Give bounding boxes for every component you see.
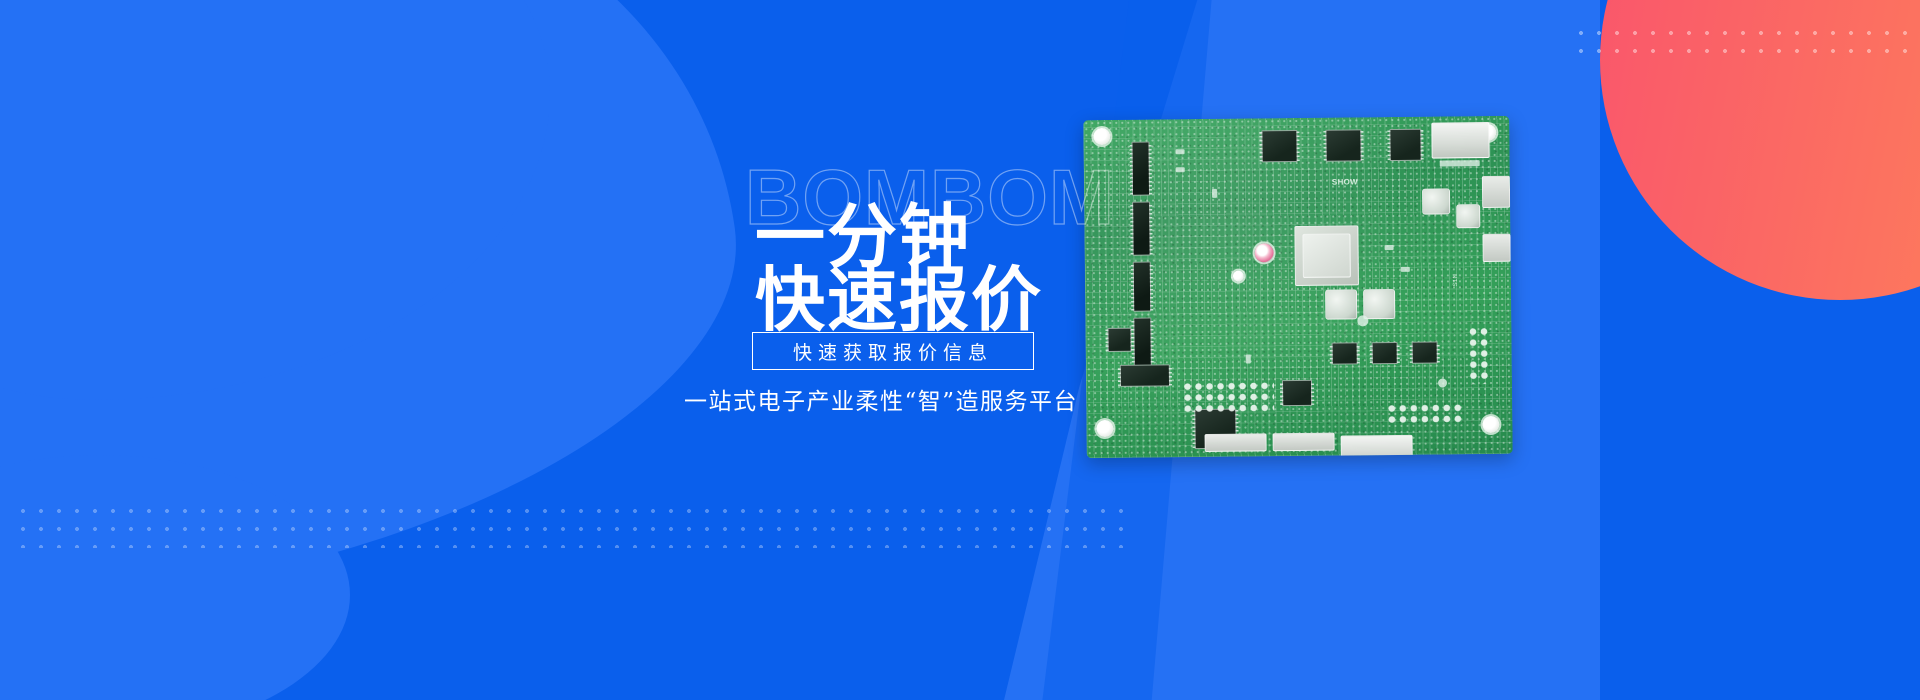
tagline-text: 一站式电子产业柔性“智”造服务平台 bbox=[684, 382, 1078, 416]
pcb-inductor bbox=[1456, 204, 1480, 228]
pcb-processor-die bbox=[1302, 233, 1350, 278]
pcb-mounting-hole bbox=[1255, 243, 1274, 262]
pcb-connector bbox=[1273, 433, 1335, 452]
subtitle-text: 快速获取报价信息 bbox=[793, 338, 993, 365]
pcb-ic-chip bbox=[1133, 262, 1152, 312]
pcb-mounting-hole bbox=[1096, 420, 1113, 437]
pcb-smd-component bbox=[1212, 189, 1217, 198]
pcb-card-slot bbox=[1431, 122, 1489, 159]
pcb-ic-chip bbox=[1325, 129, 1361, 161]
pcb-mounting-hole bbox=[1093, 128, 1110, 145]
pcb-board-image: SHOW S1N bbox=[1083, 116, 1513, 458]
pcb-ic-chip bbox=[1133, 318, 1152, 368]
pcb-smd-component bbox=[1401, 267, 1410, 272]
pcb-smd-component bbox=[1385, 245, 1394, 250]
pcb-silkscreen-label: SHOW bbox=[1332, 177, 1358, 186]
pcb-pad bbox=[1438, 378, 1447, 387]
promo-banner: SHOW S1N BOMBOM 一分钟 快速报价 快速获取报价信息 一站式电子产… bbox=[0, 0, 1920, 700]
headline-line-2: 快速报价 bbox=[755, 265, 1043, 335]
pcb-pad-array bbox=[1467, 326, 1490, 384]
pcb-ic-chip bbox=[1412, 342, 1438, 364]
pcb-smd-component bbox=[1246, 354, 1251, 363]
pcb-smd-component bbox=[1176, 167, 1185, 172]
pcb-ic-chip bbox=[1261, 130, 1297, 162]
pcb-ic-chip bbox=[1389, 129, 1421, 161]
pcb-pad bbox=[1357, 315, 1368, 326]
pcb-mounting-hole bbox=[1482, 416, 1499, 433]
pcb-silkscreen-label: S1N bbox=[1453, 274, 1459, 287]
pcb-smd-component bbox=[1176, 149, 1185, 154]
pcb-ic-chip bbox=[1107, 328, 1131, 352]
pcb-ic-chip bbox=[1132, 202, 1151, 256]
pcb-ic-chip bbox=[1282, 380, 1312, 406]
pcb-smd-component bbox=[1440, 160, 1480, 166]
pcb-inductor bbox=[1363, 289, 1395, 319]
pcb-inductor bbox=[1422, 188, 1450, 214]
subtitle-box: 快速获取报价信息 bbox=[752, 332, 1034, 370]
pcb-ic-chip bbox=[1131, 142, 1150, 196]
pcb-substrate: SHOW S1N bbox=[1083, 116, 1513, 458]
pcb-connector bbox=[1482, 234, 1510, 262]
pcb-ic-chip bbox=[1372, 342, 1398, 364]
pcb-connector bbox=[1482, 176, 1510, 208]
pcb-connector bbox=[1341, 435, 1413, 458]
pcb-pad-array bbox=[1182, 380, 1274, 415]
pcb-mounting-hole bbox=[1233, 271, 1244, 282]
pcb-ic-chip bbox=[1120, 364, 1170, 387]
dot-grid-top-right-decor bbox=[1572, 24, 1920, 64]
pcb-connector bbox=[1205, 433, 1267, 452]
pcb-inductor bbox=[1325, 289, 1357, 319]
pcb-ic-chip bbox=[1332, 342, 1358, 364]
pcb-pad-array bbox=[1386, 402, 1462, 427]
dot-grid-bottom-left-decor bbox=[14, 502, 1126, 548]
